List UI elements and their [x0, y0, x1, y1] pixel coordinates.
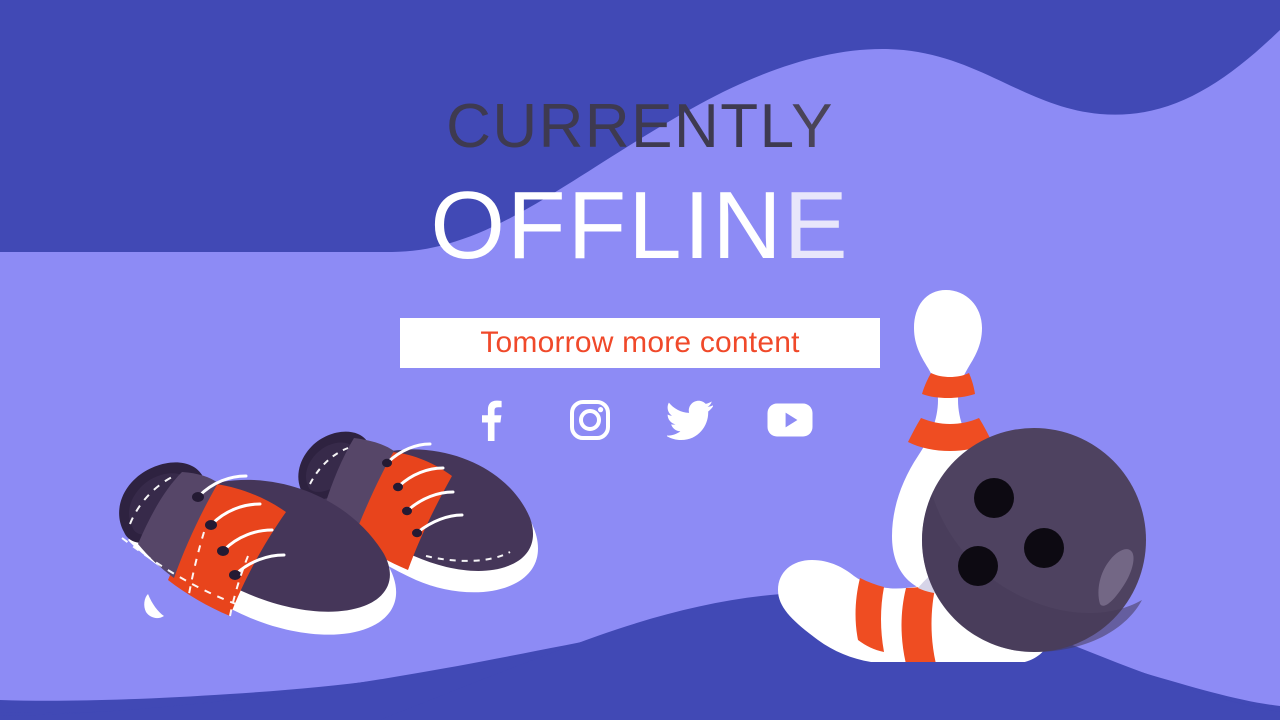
twitter-link[interactable] — [668, 398, 712, 442]
twitter-icon — [667, 400, 713, 440]
ball-hole-1 — [974, 478, 1014, 518]
shoe-front-heel-tab — [144, 594, 164, 618]
ball-hole-3 — [1024, 528, 1064, 568]
pin-lying-stripe-2 — [902, 584, 937, 662]
pin-lying-stripe-1 — [856, 578, 884, 652]
bowling-pins-ball-illustration — [756, 272, 1156, 662]
youtube-link[interactable] — [768, 398, 812, 442]
instagram-link[interactable] — [568, 398, 612, 442]
facebook-link[interactable] — [468, 398, 512, 442]
offline-screen: CURRENTLY OFFLINE Tomorrow more content — [0, 0, 1280, 720]
facebook-icon — [477, 399, 503, 441]
bowling-ball — [922, 428, 1146, 652]
instagram-icon — [569, 399, 611, 441]
youtube-icon — [767, 403, 813, 437]
ball-hole-2 — [958, 546, 998, 586]
social-links — [0, 398, 1280, 442]
